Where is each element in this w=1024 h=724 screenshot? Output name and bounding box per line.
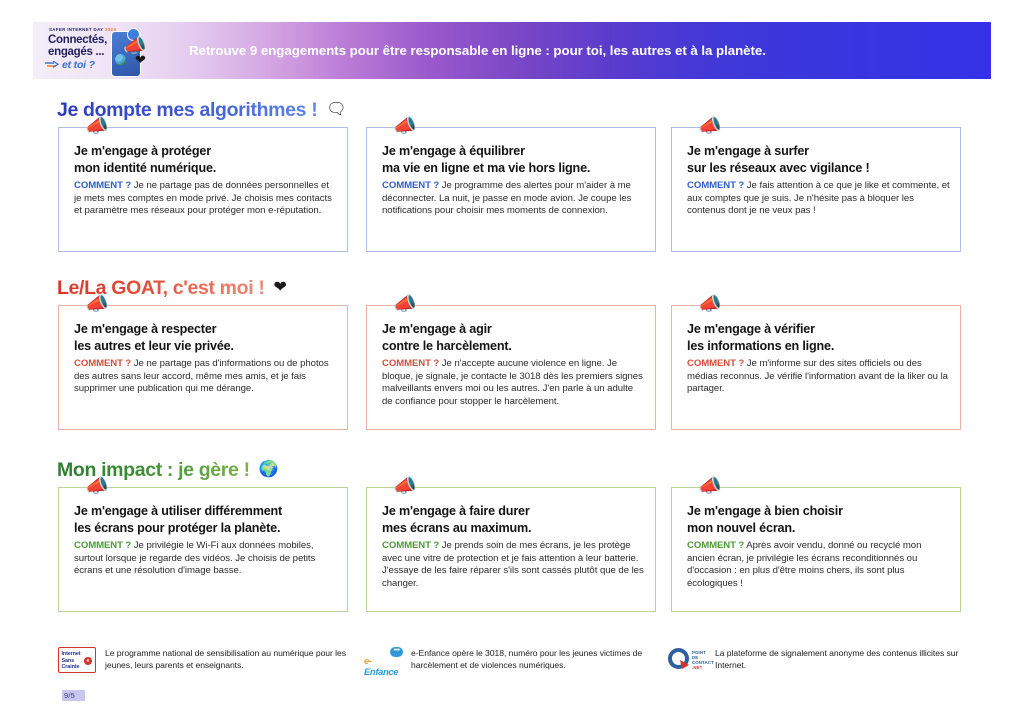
- card-title: Je m'engage à respecter les autres et le…: [74, 321, 337, 354]
- globe-emoji: 🌍: [259, 462, 279, 478]
- megaphone-icon: 📣: [393, 117, 417, 136]
- footer-text: e-Enfance opère le 3018, numéro pour les…: [411, 648, 674, 671]
- engagement-card: 📣 Je m'engage à protéger mon identité nu…: [58, 127, 348, 252]
- megaphone-icon: 📣: [85, 477, 109, 496]
- card-title: Je m'engage à surfer sur les réseaux ave…: [687, 143, 950, 176]
- card-title: Je m'engage à agir contre le harcèlement…: [382, 321, 645, 354]
- footer-item: Internet Sans Crainte e Le programme nat…: [58, 645, 368, 685]
- megaphone-icon: 📣: [698, 117, 722, 136]
- megaphone-icon: 📣: [393, 295, 417, 314]
- arrow-icon: [45, 61, 60, 69]
- megaphone-icon: 📣: [698, 477, 722, 496]
- footer-text: Le programme national de sensibilisation…: [105, 648, 368, 671]
- e-enfance-logo: e-Enfance •••: [364, 647, 402, 675]
- card-title: Je m'engage à protéger mon identité numé…: [74, 143, 337, 176]
- card-title: Je m'engage à faire durer mes écrans au …: [382, 503, 645, 536]
- logo-line-4: .NET: [692, 665, 702, 670]
- engagement-card: 📣 Je m'engage à bien choisir mon nouvel …: [671, 487, 961, 612]
- logo-wordmark: e-Enfance: [364, 656, 404, 678]
- comment-label: COMMENT ?: [74, 540, 131, 551]
- comment-label: COMMENT ?: [74, 358, 131, 369]
- point-de-contact-logo: POINT DE CONTACT .NET: [668, 647, 706, 675]
- logo-line-3: et toi ?: [62, 59, 95, 71]
- card-body: COMMENT ? Je ne partage pas d'informatio…: [74, 358, 337, 396]
- card-title: Je m'engage à vérifier les informations …: [687, 321, 950, 354]
- logo-main: Enfance: [364, 667, 398, 678]
- document-page: SAFER INTERNET DAY 2024 Connectés, engag…: [0, 0, 1024, 724]
- megaphone-icon: 📣: [85, 295, 109, 314]
- card-body: COMMENT ? Je privilégie le Wi-Fi aux don…: [74, 540, 337, 578]
- internet-sans-crainte-logo: Internet Sans Crainte e: [58, 647, 96, 675]
- logo-line-1: Connectés,: [48, 34, 107, 46]
- logo-line-3: Crainte: [62, 664, 80, 670]
- page-number: 9/5: [62, 690, 85, 701]
- card-title: Je m'engage à équilibrer ma vie en ligne…: [382, 143, 645, 176]
- speech-bubble-icon: •••: [390, 647, 403, 657]
- comment-label: COMMENT ?: [687, 540, 744, 551]
- megaphone-icon: 📣: [393, 477, 417, 496]
- speech-bubble-person-emoji: 🗨: [326, 102, 346, 118]
- footer-text: La plateforme de signalement anonyme des…: [715, 648, 978, 671]
- card-body: COMMENT ? Je programme des alertes pour …: [382, 180, 645, 218]
- header-banner: SAFER INTERNET DAY 2024 Connectés, engag…: [33, 22, 991, 79]
- megaphone-icon: 📣: [698, 295, 722, 314]
- footer-item: POINT DE CONTACT .NET La plateforme de s…: [668, 645, 978, 685]
- logo-line-1: Internet: [62, 651, 81, 657]
- engagement-card: 📣 Je m'engage à respecter les autres et …: [58, 305, 348, 430]
- comment-label: COMMENT ?: [687, 180, 744, 191]
- engagement-card: 📣 Je m'engage à agir contre le harcèleme…: [366, 305, 656, 430]
- card-title: Je m'engage à utiliser différemment les …: [74, 503, 337, 536]
- banner-title: Retrouve 9 engagements pour être respons…: [189, 22, 983, 79]
- megaphone-icon: 📣: [85, 117, 109, 136]
- footer-item: e-Enfance ••• e-Enfance opère le 3018, n…: [364, 645, 674, 685]
- heart-icon: ❤: [135, 53, 146, 66]
- engagement-card: 📣 Je m'engage à équilibrer ma vie en lig…: [366, 127, 656, 252]
- engagement-card: 📣 Je m'engage à faire durer mes écrans a…: [366, 487, 656, 612]
- comment-label: COMMENT ?: [382, 540, 439, 551]
- card-body: COMMENT ? Je fais attention à ce que je …: [687, 180, 950, 218]
- comment-label: COMMENT ?: [74, 180, 131, 191]
- footer: Internet Sans Crainte e Le programme nat…: [0, 645, 1024, 695]
- comment-label: COMMENT ?: [382, 180, 439, 191]
- engagement-card: 📣 Je m'engage à vérifier les information…: [671, 305, 961, 430]
- card-body: COMMENT ? Je m'informe sur des sites off…: [687, 358, 950, 396]
- card-row: 📣 Je m'engage à respecter les autres et …: [0, 305, 1024, 437]
- logo-prefix: e-: [364, 656, 372, 667]
- sid-text: SAFER INTERNET DAY: [49, 27, 103, 32]
- logo-dot-icon: e: [84, 657, 92, 665]
- heart-emoji: ❤: [274, 280, 287, 296]
- engagement-card: 📣 Je m'engage à utiliser différemment le…: [58, 487, 348, 612]
- comment-label: COMMENT ?: [382, 358, 439, 369]
- card-body: COMMENT ? Après avoir vendu, donné ou re…: [687, 540, 950, 591]
- safer-internet-day-logo: SAFER INTERNET DAY 2024 Connectés, engag…: [39, 25, 159, 77]
- card-body: COMMENT ? Je prends soin de mes écrans, …: [382, 540, 645, 591]
- logo-line-2: engagés ...: [48, 46, 104, 58]
- card-row: 📣 Je m'engage à protéger mon identité nu…: [0, 127, 1024, 259]
- safer-internet-day-label: SAFER INTERNET DAY 2024: [49, 27, 116, 32]
- card-row: 📣 Je m'engage à utiliser différemment le…: [0, 487, 1024, 619]
- card-body: COMMENT ? Je ne partage pas de données p…: [74, 180, 337, 218]
- engagement-card: 📣 Je m'engage à surfer sur les réseaux a…: [671, 127, 961, 252]
- logo-line-2: Sans: [62, 658, 75, 664]
- comment-label: COMMENT ?: [687, 358, 744, 369]
- card-body: COMMENT ? Je n'accepte aucune violence e…: [382, 358, 645, 409]
- card-title: Je m'engage à bien choisir mon nouvel éc…: [687, 503, 950, 536]
